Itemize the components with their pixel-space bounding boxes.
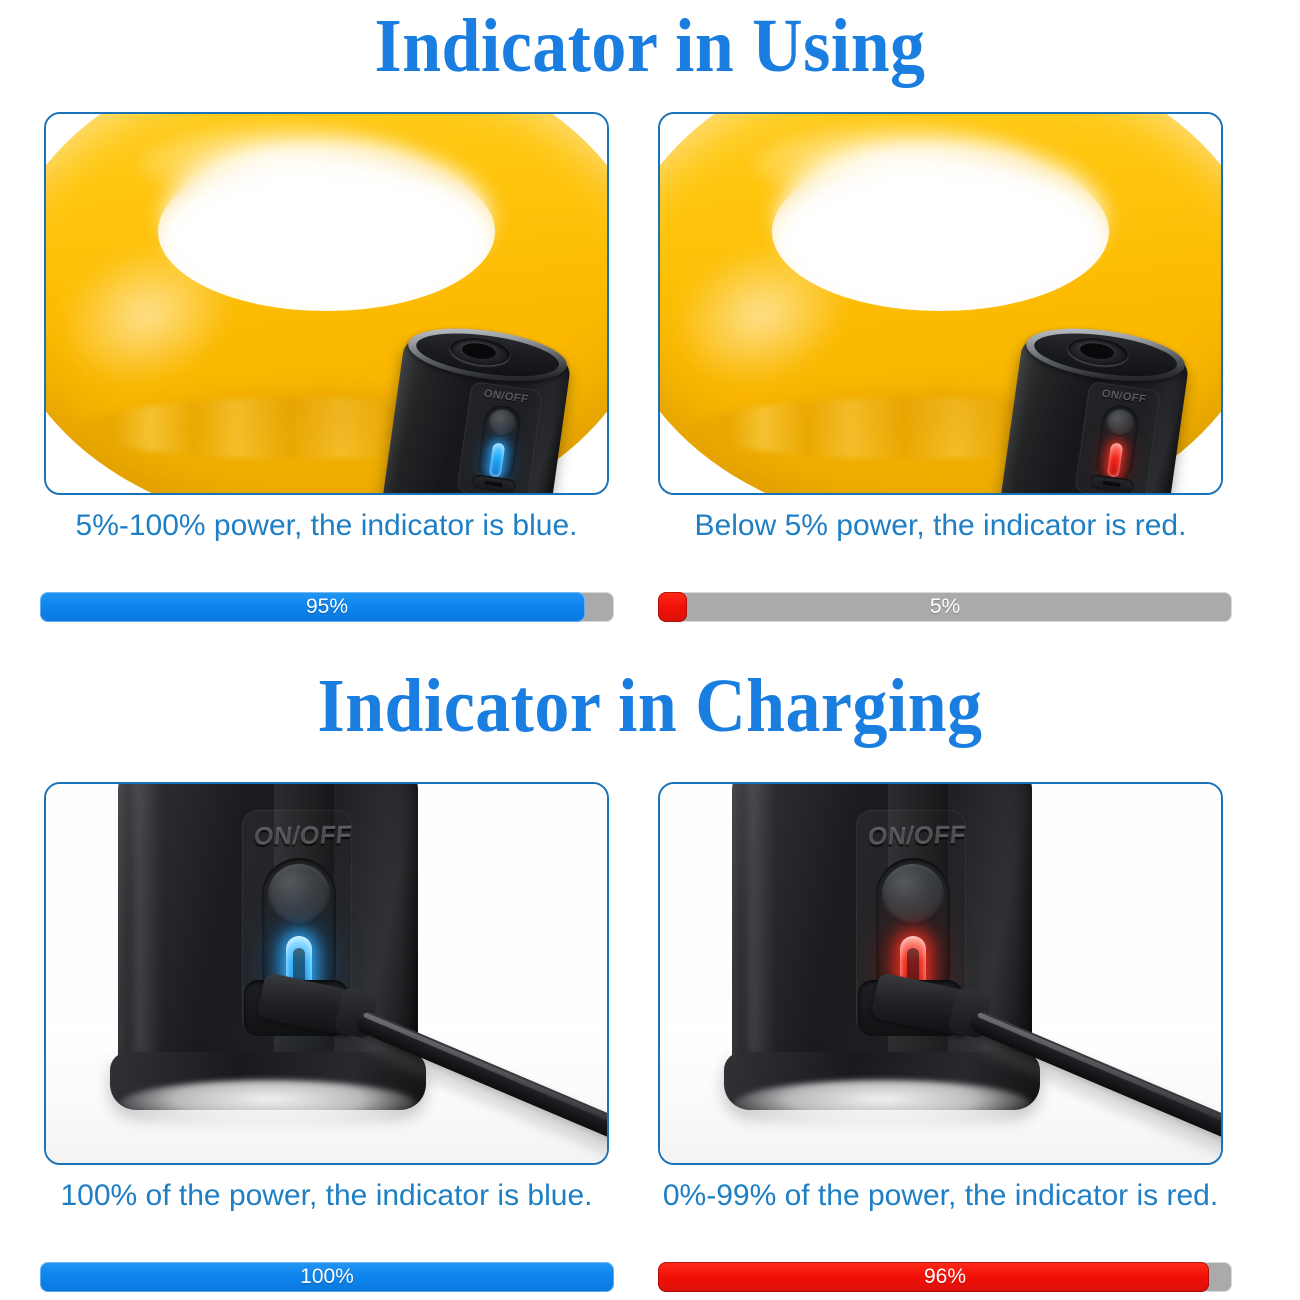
power-button[interactable] bbox=[486, 408, 518, 440]
ring-highlight-top bbox=[136, 122, 428, 205]
caption-using-red: Below 5% power, the indicator is red. bbox=[658, 508, 1223, 545]
photo-pump-on-ring-red: ON/OFF bbox=[660, 114, 1221, 493]
battery-bar-charging-blue: 100% bbox=[40, 1262, 614, 1292]
panel-using-red: ON/OFF bbox=[658, 112, 1223, 495]
battery-bar-using-blue: 95% bbox=[40, 592, 614, 622]
air-pump-device-blue: ON/OFF bbox=[378, 317, 575, 493]
device-control-panel: ON/OFF bbox=[1074, 381, 1161, 493]
battery-bar-label: 100% bbox=[40, 1262, 614, 1292]
power-key-recess bbox=[1094, 403, 1141, 485]
status-led-red bbox=[1107, 442, 1124, 477]
ring-highlight-top bbox=[750, 122, 1042, 205]
power-key-recess bbox=[476, 403, 523, 485]
battery-bar-label: 96% bbox=[658, 1262, 1232, 1292]
photo-pump-charging-blue: ON/OFF bbox=[46, 784, 607, 1163]
caption-charging-blue: 100% of the power, the indicator is blue… bbox=[44, 1178, 609, 1215]
caption-charging-red: 0%-99% of the power, the indicator is re… bbox=[658, 1178, 1223, 1215]
on-off-label: ON/OFF bbox=[866, 821, 961, 852]
status-led-blue bbox=[489, 442, 506, 477]
charging-closeup-scene: ON/OFF bbox=[46, 784, 607, 1163]
battery-bar-using-red: 5% bbox=[658, 592, 1232, 622]
charging-closeup-scene: ON/OFF bbox=[660, 784, 1221, 1163]
photo-pump-charging-red: ON/OFF bbox=[660, 784, 1221, 1163]
on-off-label: ON/OFF bbox=[475, 387, 537, 407]
section-title-charging: Indicator in Charging bbox=[52, 668, 1248, 744]
section-title-using: Indicator in Using bbox=[52, 8, 1248, 84]
panel-using-blue: ON/OFF bbox=[44, 112, 609, 495]
device-body-highlight bbox=[134, 784, 162, 1064]
power-button[interactable] bbox=[268, 864, 330, 926]
battery-bar-label: 5% bbox=[658, 592, 1232, 622]
panel-charging-blue: ON/OFF bbox=[44, 782, 609, 1165]
air-pump-device-red: ON/OFF bbox=[996, 317, 1193, 493]
power-button[interactable] bbox=[1104, 408, 1136, 440]
on-off-label: ON/OFF bbox=[252, 821, 347, 852]
device-control-panel: ON/OFF bbox=[456, 381, 543, 493]
device-body-highlight bbox=[748, 784, 776, 1064]
photo-pump-on-ring-blue: ON/OFF bbox=[46, 114, 607, 493]
power-button[interactable] bbox=[882, 864, 944, 926]
on-off-label: ON/OFF bbox=[1093, 387, 1155, 407]
device-base-glow bbox=[120, 1080, 416, 1128]
panel-charging-red: ON/OFF bbox=[658, 782, 1223, 1165]
caption-using-blue: 5%-100% power, the indicator is blue. bbox=[44, 508, 609, 545]
device-base-glow bbox=[734, 1080, 1030, 1128]
infographic-page: Indicator in Using ON/OFF bbox=[0, 0, 1300, 1300]
battery-bar-charging-red: 96% bbox=[658, 1262, 1232, 1292]
battery-bar-label: 95% bbox=[40, 592, 614, 622]
